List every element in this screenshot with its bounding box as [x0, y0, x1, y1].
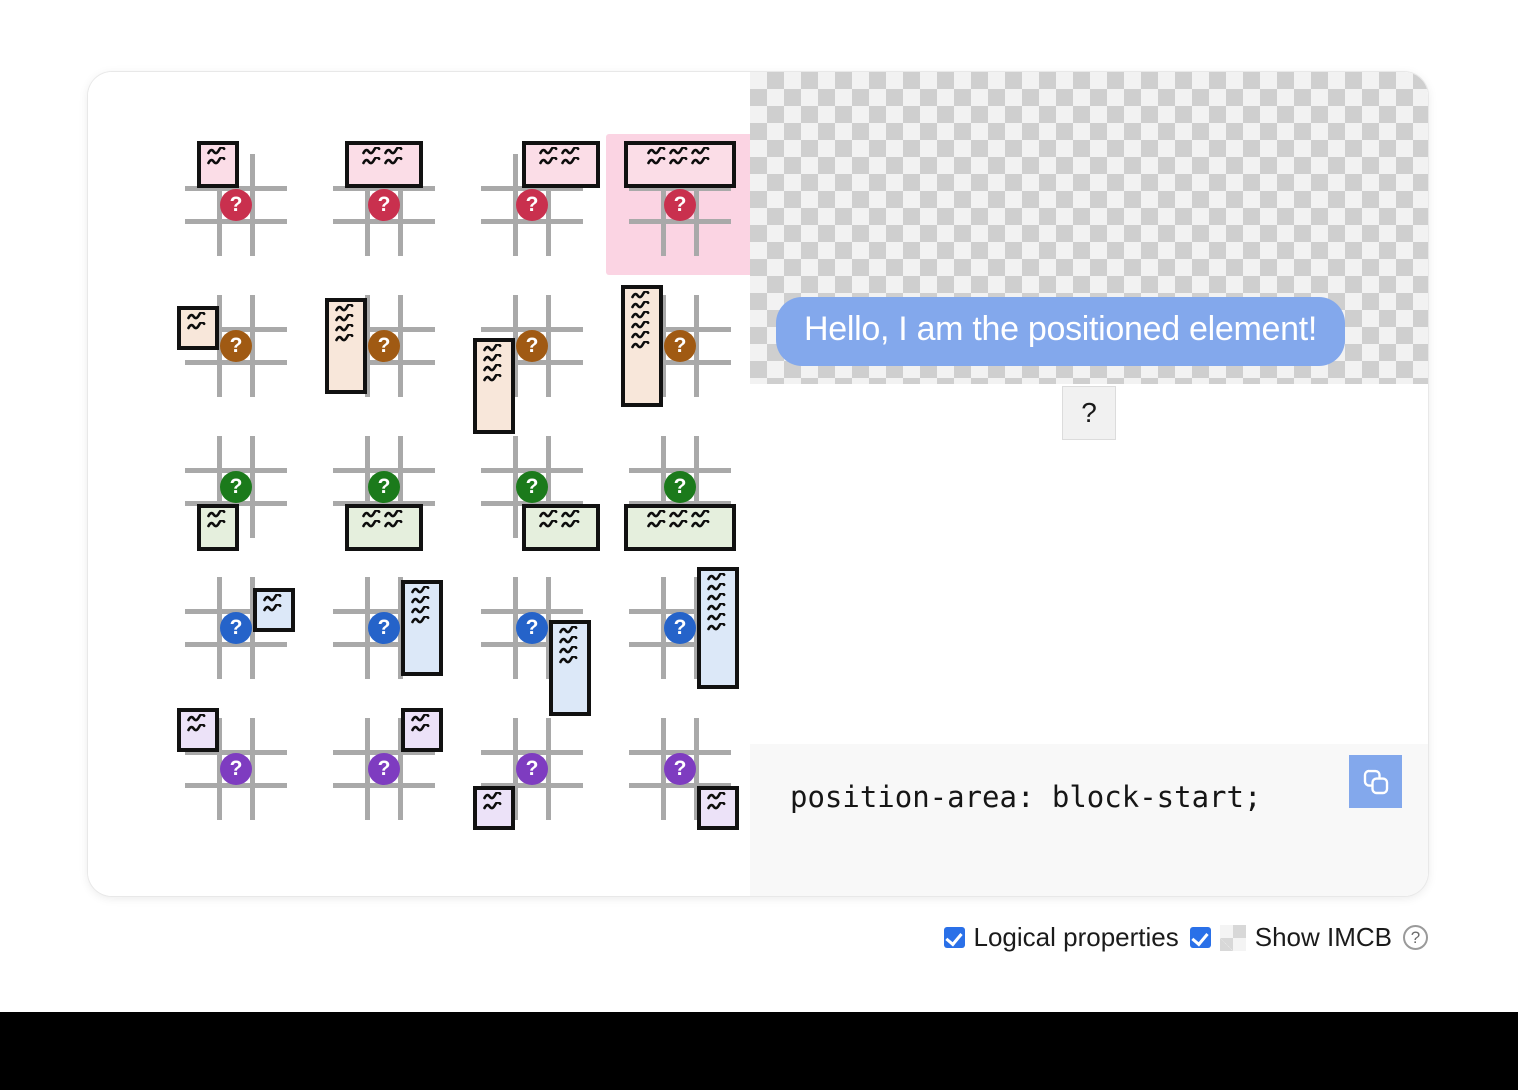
code-panel: position-area: block-start;	[750, 744, 1428, 896]
text-squiggle-icon	[647, 520, 713, 529]
text-squiggle-icon	[411, 616, 433, 625]
positioned-element-box	[345, 141, 423, 188]
anchor-marker: ?	[220, 471, 252, 503]
text-squiggle-icon	[335, 324, 357, 333]
containing-block-grid: ?	[333, 718, 435, 820]
text-squiggle-icon	[411, 724, 433, 733]
anchor-element-chip[interactable]: ?	[1062, 386, 1116, 440]
position-area-tile-end-end-corner[interactable]: ?	[606, 698, 754, 839]
containing-block-grid: ?	[481, 718, 583, 820]
text-squiggle-icon	[707, 613, 729, 622]
text-squiggle-icon	[483, 344, 505, 353]
text-squiggle-icon	[335, 314, 357, 323]
text-squiggle-icon	[539, 510, 583, 519]
positioned-element-box	[621, 285, 663, 407]
text-squiggle-icon	[707, 573, 729, 582]
positioned-element-box	[522, 504, 600, 551]
text-squiggle-icon	[187, 714, 209, 723]
text-squiggle-icon	[207, 147, 229, 156]
containing-block-grid: ?	[333, 154, 435, 256]
text-squiggle-icon	[559, 646, 581, 655]
checkerboard-swatch-icon	[1220, 925, 1246, 951]
anchor-marker: ?	[220, 330, 252, 362]
text-squiggle-icon	[483, 374, 505, 383]
logical-properties-label: Logical properties	[974, 922, 1179, 953]
text-squiggle-icon	[411, 714, 433, 723]
text-squiggle-icon	[707, 593, 729, 602]
text-squiggle-icon	[187, 322, 209, 331]
text-squiggle-icon	[187, 312, 209, 321]
position-area-tile-span-all-inline[interactable]: ?	[606, 557, 754, 698]
text-squiggle-icon	[707, 792, 729, 801]
positioned-element-box	[522, 141, 600, 188]
text-squiggle-icon	[483, 354, 505, 363]
text-squiggle-icon	[539, 157, 583, 166]
position-area-tile-span-all-block[interactable]: ?	[606, 134, 754, 275]
containing-block-grid: ?	[333, 436, 435, 538]
containing-block-grid: ?	[481, 295, 583, 397]
position-area-tile-start-start-corner[interactable]: ?	[162, 698, 310, 839]
containing-block-grid: ?	[185, 295, 287, 397]
anchor-marker: ?	[516, 189, 548, 221]
text-squiggle-icon	[483, 364, 505, 373]
anchor-marker: ?	[664, 753, 696, 785]
anchor-marker: ?	[368, 330, 400, 362]
text-squiggle-icon	[263, 594, 285, 603]
text-squiggle-icon	[411, 606, 433, 615]
position-area-grid-pane: ????????????????????	[88, 72, 750, 896]
positioned-element-box	[697, 567, 739, 689]
help-icon[interactable]: ?	[1403, 925, 1428, 950]
position-area-tile-span-end-inline[interactable]: ?	[458, 275, 606, 416]
position-area-tile-center-inline[interactable]: ?	[310, 557, 458, 698]
containing-block-grid: ?	[185, 718, 287, 820]
text-squiggle-icon	[631, 321, 653, 330]
positioned-element-box	[197, 504, 239, 551]
text-squiggle-icon	[647, 147, 713, 156]
logical-properties-control[interactable]: Logical properties	[944, 922, 1179, 953]
position-area-tile-span-end-block[interactable]: ?	[458, 134, 606, 275]
anchor-marker: ?	[664, 471, 696, 503]
anchor-marker: ?	[220, 612, 252, 644]
position-area-tile-span-start-inline[interactable]: ?	[162, 275, 310, 416]
containing-block-grid: ?	[629, 295, 731, 397]
text-squiggle-icon	[707, 623, 729, 632]
text-squiggle-icon	[631, 331, 653, 340]
position-area-tile-grid[interactable]: ????????????????????	[162, 134, 754, 839]
position-area-tile-span-all-block[interactable]: ?	[606, 416, 754, 557]
logical-properties-checkbox[interactable]	[944, 927, 965, 948]
text-squiggle-icon	[631, 311, 653, 320]
position-area-tile-span-start-block[interactable]: ?	[162, 134, 310, 275]
position-area-tile-end-start-corner[interactable]: ?	[458, 698, 606, 839]
anchor-marker: ?	[516, 330, 548, 362]
text-squiggle-icon	[631, 341, 653, 350]
text-squiggle-icon	[335, 334, 357, 343]
text-squiggle-icon	[362, 510, 406, 519]
anchor-marker: ?	[664, 612, 696, 644]
text-squiggle-icon	[539, 147, 583, 156]
anchor-marker: ?	[368, 612, 400, 644]
positioned-element-box	[253, 588, 295, 632]
containing-block-grid: ?	[333, 577, 435, 679]
position-area-tile-span-all-inline[interactable]: ?	[606, 275, 754, 416]
anchor-marker: ?	[368, 471, 400, 503]
position-area-tile-center-block[interactable]: ?	[310, 416, 458, 557]
containing-block-grid: ?	[333, 295, 435, 397]
footer-controls: Logical properties Show IMCB ?	[0, 922, 1428, 953]
containing-block-grid: ?	[481, 577, 583, 679]
show-imcb-label: Show IMCB	[1255, 922, 1392, 953]
position-area-tile-center-block[interactable]: ?	[310, 134, 458, 275]
text-squiggle-icon	[631, 291, 653, 300]
bottom-bar	[0, 1012, 1518, 1090]
containing-block-grid: ?	[185, 577, 287, 679]
app-root: ???????????????????? Hello, I am the pos…	[0, 0, 1518, 1090]
text-squiggle-icon	[707, 583, 729, 592]
containing-block-grid: ?	[481, 436, 583, 538]
position-area-tile-center-inline[interactable]: ?	[310, 275, 458, 416]
positioned-element-box	[345, 504, 423, 551]
text-squiggle-icon	[263, 604, 285, 613]
positioned-element-box	[697, 786, 739, 830]
positioned-element-box	[197, 141, 239, 188]
text-squiggle-icon	[362, 147, 406, 156]
visualizer-card: ???????????????????? Hello, I am the pos…	[88, 72, 1428, 896]
positioned-element-box	[177, 306, 219, 350]
text-squiggle-icon	[559, 656, 581, 665]
text-squiggle-icon	[362, 157, 406, 166]
anchor-marker: ?	[368, 753, 400, 785]
text-squiggle-icon	[411, 586, 433, 595]
text-squiggle-icon	[335, 304, 357, 313]
containing-block-grid: ?	[629, 718, 731, 820]
text-squiggle-icon	[647, 510, 713, 519]
position-area-tile-span-start-inline[interactable]: ?	[162, 557, 310, 698]
position-area-tile-start-end-corner[interactable]: ?	[310, 698, 458, 839]
text-squiggle-icon	[647, 157, 713, 166]
text-squiggle-icon	[483, 802, 505, 811]
anchor-marker: ?	[664, 330, 696, 362]
code-declaration: position-area: block-start;	[790, 780, 1261, 814]
text-squiggle-icon	[559, 626, 581, 635]
text-squiggle-icon	[539, 520, 583, 529]
text-squiggle-icon	[707, 802, 729, 811]
positioned-element-box	[473, 786, 515, 830]
text-squiggle-icon	[707, 603, 729, 612]
show-imcb-control[interactable]: Show IMCB	[1190, 922, 1392, 953]
containing-block-grid: ?	[481, 154, 583, 256]
positioned-element-box	[401, 708, 443, 752]
anchor-marker: ?	[516, 471, 548, 503]
positioned-element-box	[401, 580, 443, 676]
anchor-marker: ?	[516, 612, 548, 644]
containing-block-grid: ?	[629, 577, 731, 679]
position-area-tile-span-end-inline[interactable]: ?	[458, 557, 606, 698]
anchor-marker: ?	[516, 753, 548, 785]
containing-block-grid: ?	[629, 436, 731, 538]
preview-pane: Hello, I am the positioned element! ? po…	[750, 72, 1428, 896]
containing-block-grid: ?	[629, 154, 731, 256]
position-area-tile-span-start-block[interactable]: ?	[162, 416, 310, 557]
positioned-element-box	[624, 141, 736, 188]
positioned-element-bubble: Hello, I am the positioned element!	[776, 297, 1345, 366]
text-squiggle-icon	[411, 596, 433, 605]
positioned-element-box	[325, 298, 367, 394]
text-squiggle-icon	[207, 510, 229, 519]
text-squiggle-icon	[207, 157, 229, 166]
containing-block-grid: ?	[185, 154, 287, 256]
text-squiggle-icon	[559, 636, 581, 645]
text-squiggle-icon	[187, 724, 209, 733]
show-imcb-checkbox[interactable]	[1190, 927, 1211, 948]
copy-icon[interactable]	[1349, 755, 1402, 808]
text-squiggle-icon	[483, 792, 505, 801]
positioned-element-box	[624, 504, 736, 551]
text-squiggle-icon	[362, 520, 406, 529]
anchor-marker: ?	[368, 189, 400, 221]
anchor-marker: ?	[664, 189, 696, 221]
text-squiggle-icon	[207, 520, 229, 529]
text-squiggle-icon	[631, 301, 653, 310]
containing-block-grid: ?	[185, 436, 287, 538]
anchor-marker: ?	[220, 189, 252, 221]
positioned-element-box	[177, 708, 219, 752]
anchor-marker: ?	[220, 753, 252, 785]
position-area-tile-span-end-block[interactable]: ?	[458, 416, 606, 557]
